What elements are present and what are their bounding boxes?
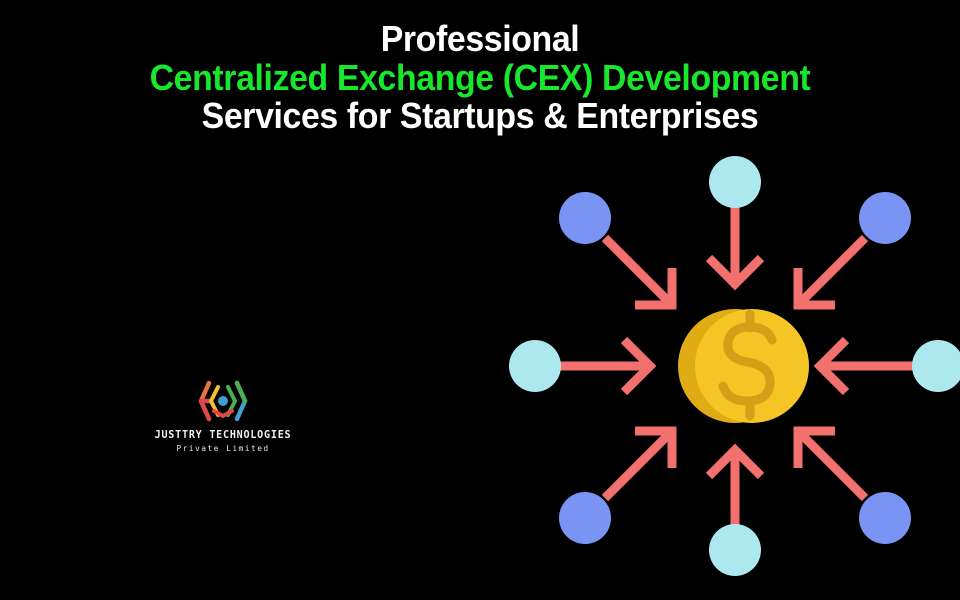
poster-canvas: Professional Centralized Exchange (CEX) …	[0, 0, 960, 600]
centralized-exchange-hub-diagram	[500, 150, 960, 590]
brand-suffix: Private Limited	[150, 444, 296, 453]
brand-name: JUSTTRY TECHNOLOGIES	[153, 429, 293, 441]
headline-line-2: Centralized Exchange (CEX) Development	[29, 59, 931, 98]
headline-line-3: Services for Startups & Enterprises	[29, 97, 931, 136]
node-northeast	[859, 192, 911, 244]
node-north	[709, 156, 761, 208]
node-southeast	[859, 492, 911, 544]
node-southwest	[559, 492, 611, 544]
node-south	[709, 524, 761, 576]
headline-line-1: Professional	[29, 20, 931, 59]
page-title: Professional Centralized Exchange (CEX) …	[0, 20, 960, 136]
node-northwest	[559, 192, 611, 244]
brand-logo: JUSTTRY TECHNOLOGIES Private Limited	[150, 378, 296, 453]
node-west	[509, 340, 561, 392]
dollar-coin-icon	[678, 309, 809, 423]
justtry-hexagon-mark-icon	[194, 378, 252, 424]
node-east	[912, 340, 960, 392]
